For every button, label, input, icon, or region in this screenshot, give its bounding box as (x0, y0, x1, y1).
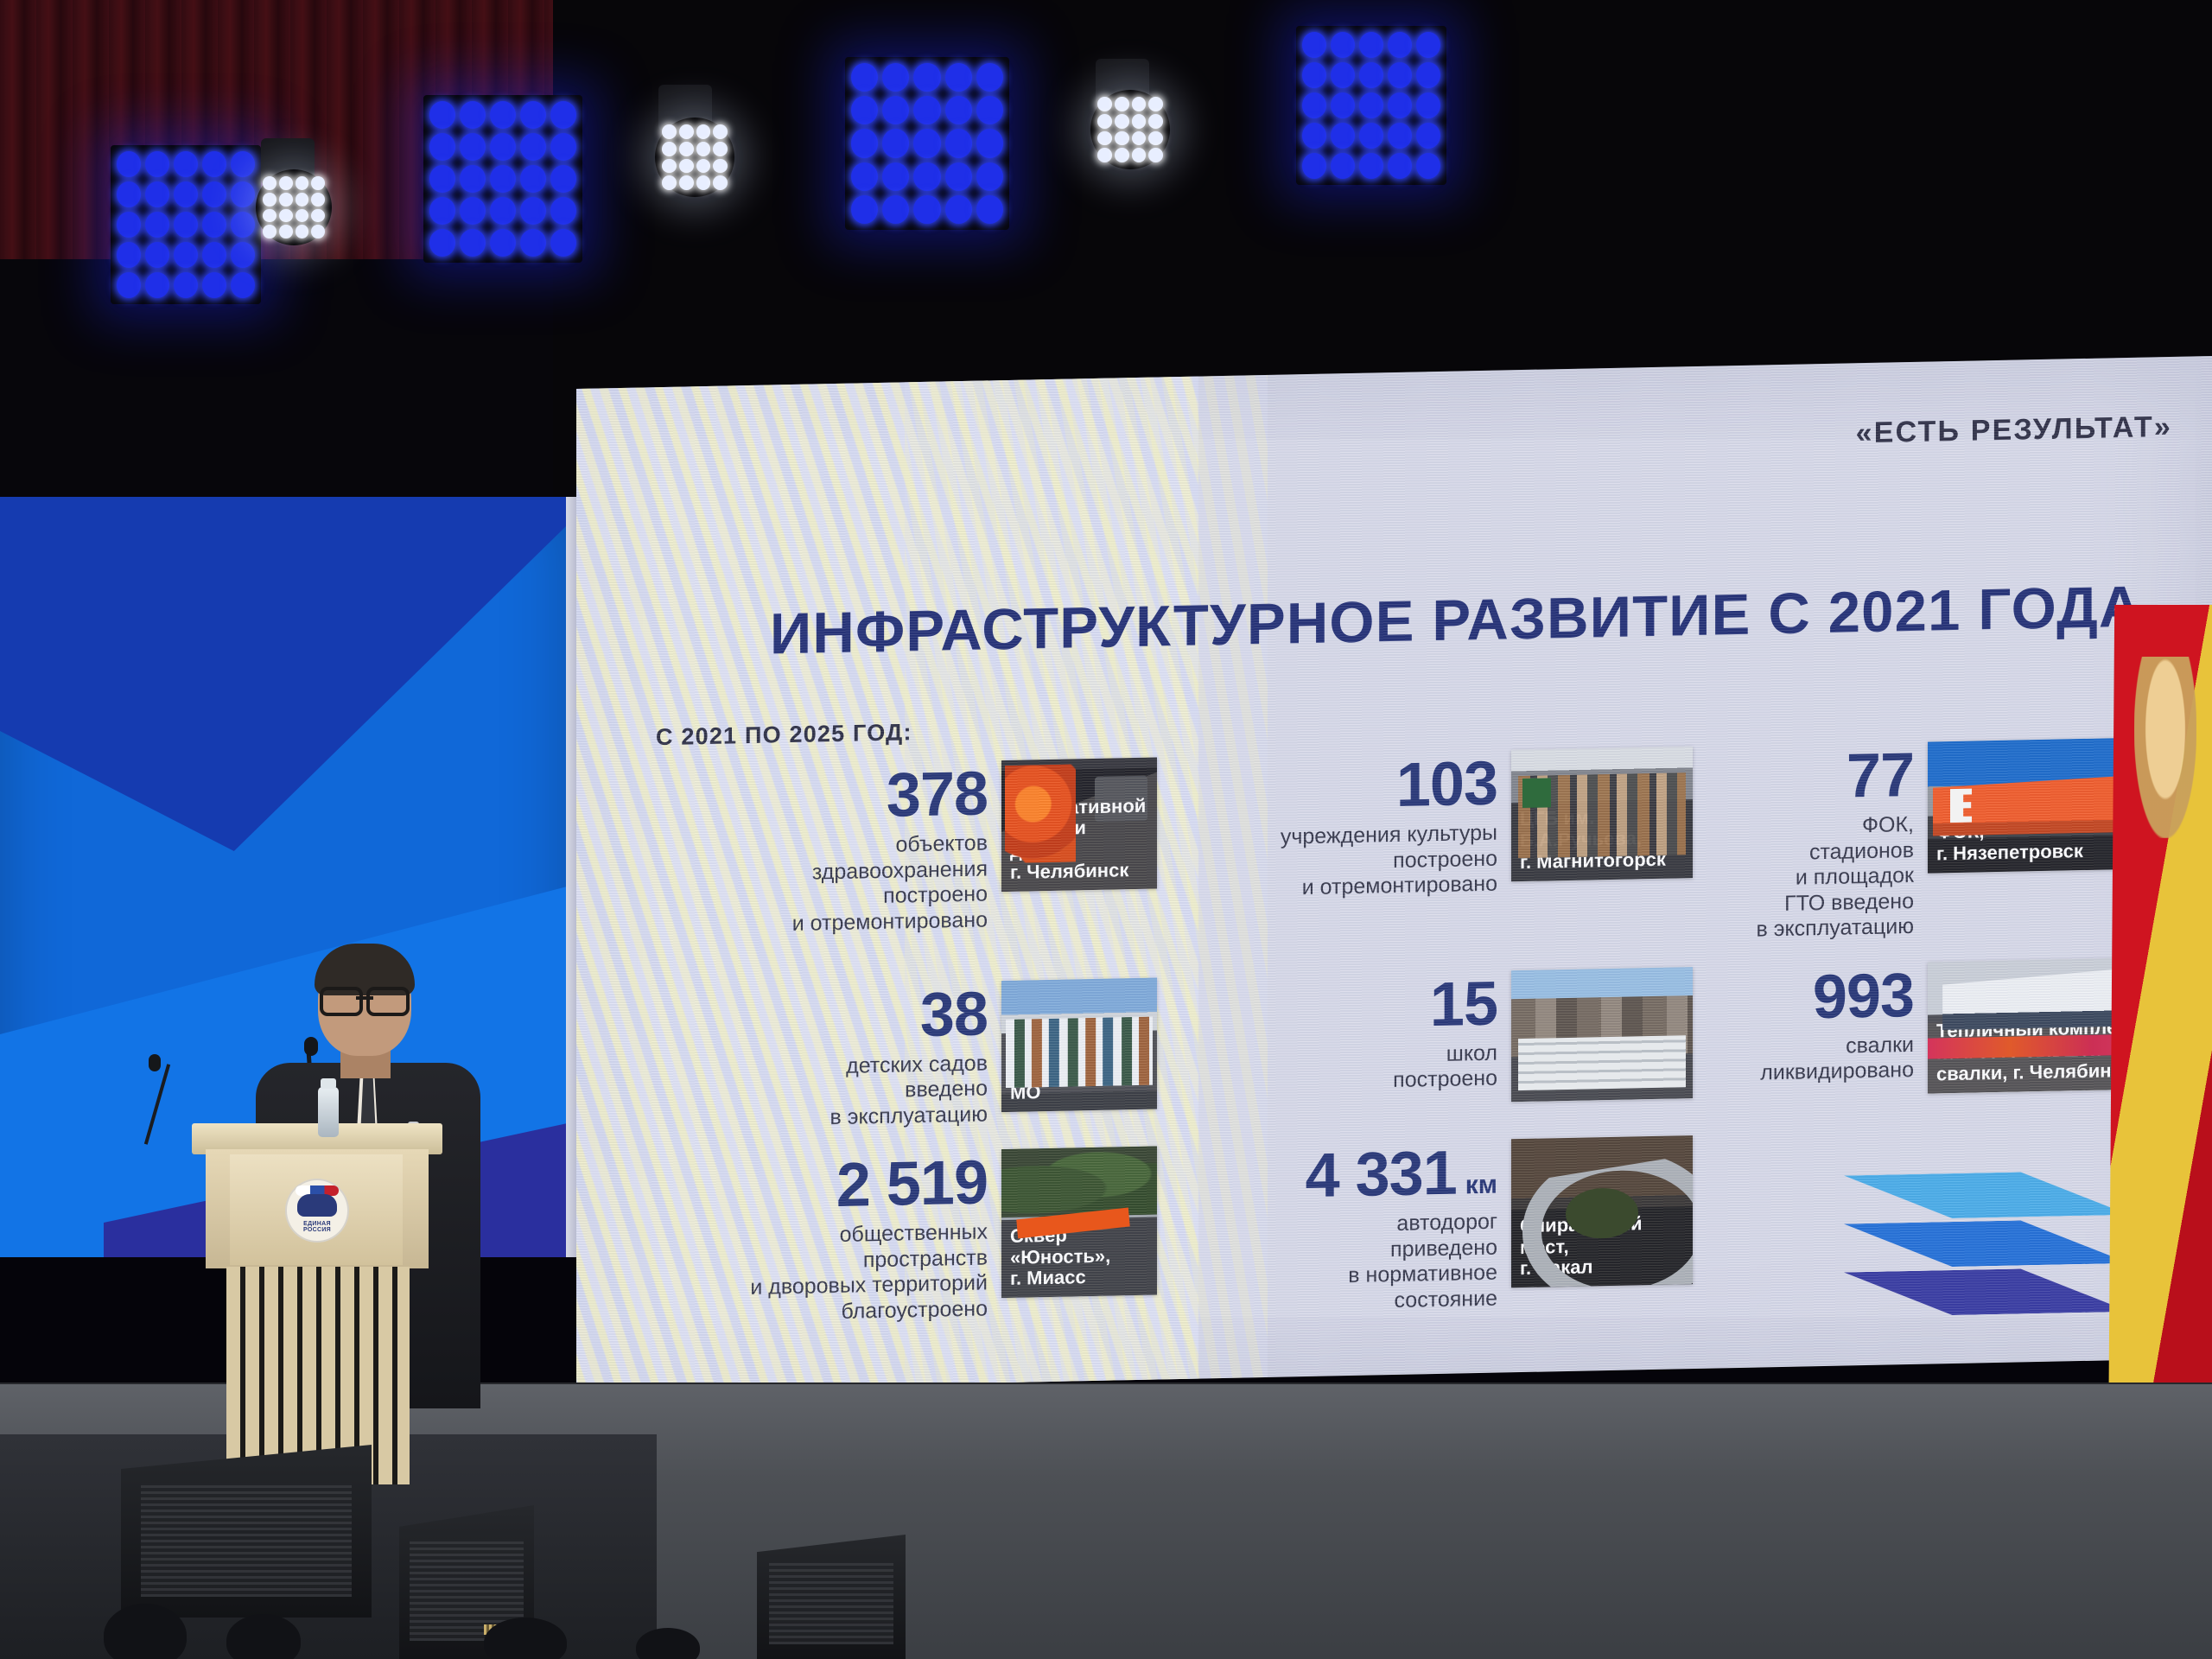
bottle-cap (321, 1078, 336, 1089)
slide-kicker: «ЕСТЬ РЕЗУЛЬТАТ» (1856, 410, 2172, 450)
stat-photo-label: Детский сад, Сосновский МО (1001, 1031, 1157, 1112)
stat-item: 4 331 км автодорог приведено в нормативн… (1157, 1135, 1693, 1319)
water-bottle (318, 1087, 339, 1137)
logo-line-1: ЕДИНАЯ (285, 1221, 349, 1228)
stat-value: 77 (1698, 746, 1914, 810)
stat-caption: школ построено (1186, 1040, 1497, 1097)
blue-led-panel-icon (423, 95, 582, 263)
stat-photo-label: Сквер «Юность», г. Миасс (1001, 1217, 1157, 1298)
stat-photo: Спиральный мост, г. Бакал (1511, 1135, 1693, 1287)
united-russia-logo-icon: ЕДИНАЯ РОССИЯ (285, 1179, 349, 1243)
stat-item: 993 свалки ликвидировано Тепличный компл… (1693, 957, 2175, 1113)
chevron-decor (1844, 1170, 2129, 1340)
stat-photo-label: Центр паллиативной помощи детям, г. Челя… (1001, 767, 1157, 892)
stat-value: 4 331 (1306, 1144, 1457, 1207)
white-spotlight-icon (256, 169, 332, 245)
stat-photo-label: Спиральный мост, г. Бакал (1511, 1206, 1693, 1288)
stat-caption: свалки ликвидировано (1698, 1033, 1914, 1088)
white-spotlight-icon (655, 118, 734, 197)
stat-caption: детских садов введено в эксплуатацию (702, 1051, 988, 1133)
slide-period-label: С 2021 ПО 2025 ГОД: (656, 719, 912, 751)
stat-row: 38 детских садов введено в эксплуатацию … (628, 957, 2175, 1135)
audience-head (104, 1604, 187, 1659)
stage-scene: «ЕСТЬ РЕЗУЛЬТАТ» ИНФРАСТРУКТУРНОЕ РАЗВИТ… (0, 0, 2212, 1659)
blue-led-panel-icon (845, 57, 1009, 230)
stat-item: 2 519 общественных пространств и дворовы… (628, 1147, 1157, 1329)
stat-photo: Центр паллиативной помощи детям, г. Челя… (1001, 758, 1157, 893)
stat-value: 103 (1186, 754, 1497, 820)
stat-value: 15 (1186, 974, 1497, 1039)
stat-row: 378 объектов здравоохранения построено и… (628, 737, 2175, 966)
stat-caption: учреждения культуры построено и отремонт… (1186, 821, 1497, 904)
logo-line-2: РОССИЯ (285, 1227, 349, 1234)
stat-photo: Детский сад, Сосновский МО (1001, 977, 1157, 1112)
stat-item: 103 учреждения культуры построено и отре… (1157, 747, 1693, 955)
eyeglasses-icon (320, 987, 410, 1009)
stat-caption: ФОК, стадионов и площадок ГТО введено в … (1698, 812, 1914, 944)
stat-unit: км (1465, 1171, 1497, 1201)
stat-value: 2 519 (702, 1154, 988, 1219)
stat-photo-label: ЦГБ им. Б.А.Ручьева, г. Магнитогорск (1511, 799, 1693, 881)
stat-caption: автодорог приведено в нормативное состоя… (1186, 1210, 1497, 1318)
stat-value: 38 (702, 984, 988, 1050)
stage-monitor-speaker (121, 1445, 372, 1618)
stat-photo: ОЦ «Ньютон», г. Челябинск (1511, 967, 1693, 1102)
stat-caption: общественных пространств и дворовых терр… (702, 1220, 988, 1328)
stat-item: 77 ФОК, стадионов и площадок ГТО введено… (1693, 737, 2175, 944)
stat-caption: объектов здравоохранения построено и отр… (702, 831, 988, 939)
flag-emblem-icon (2134, 657, 2196, 838)
blue-led-panel-icon (1296, 26, 1446, 185)
stat-photo: Сквер «Юность», г. Миасс (1001, 1147, 1157, 1299)
stat-value: 993 (1698, 966, 1914, 1030)
white-spotlight-icon (1090, 90, 1170, 169)
stat-value: 378 (702, 764, 988, 829)
stat-item: 15 школ построено ОЦ «Ньютон», г. Челяби… (1157, 967, 1693, 1124)
microphone-icon (149, 1054, 161, 1071)
stat-photo: ЦГБ им. Б.А.Ручьева, г. Магнитогорск (1511, 747, 1693, 881)
stat-item: 38 детских садов введено в эксплуатацию … (628, 977, 1157, 1135)
stage-monitor-speaker (757, 1535, 906, 1659)
blue-led-panel-icon (111, 145, 261, 304)
podium: ЕДИНАЯ РОССИЯ (192, 1123, 442, 1484)
presentation-slide: «ЕСТЬ РЕЗУЛЬТАТ» ИНФРАСТРУКТУРНОЕ РАЗВИТ… (576, 356, 2212, 1391)
stat-photo-label: ОЦ «Ньютон», г. Челябинск (1511, 1041, 1693, 1102)
led-wall-seam (566, 497, 576, 1257)
stat-item: 378 объектов здравоохранения построено и… (628, 758, 1157, 966)
